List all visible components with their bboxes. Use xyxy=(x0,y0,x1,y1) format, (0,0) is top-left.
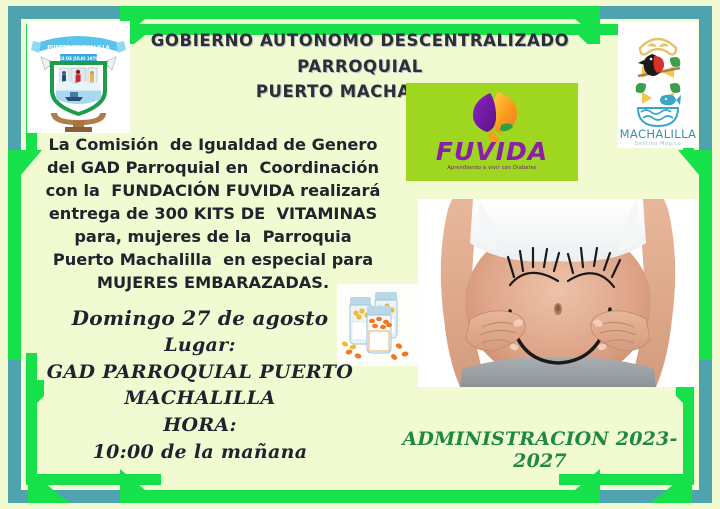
event-time-label: HORA: xyxy=(20,413,380,438)
machalilla-tourism-logo: MACHALILLA Destino Mágico xyxy=(618,22,698,148)
administration-period: ADMINISTRACION 2023-2027 xyxy=(390,428,690,472)
frame-corner-bottom-right-teal xyxy=(562,490,712,503)
event-details: Domingo 27 de agosto Lugar: GAD PARROQUI… xyxy=(20,305,380,466)
event-place-line-1: GAD PARROQUIAL PUERTO xyxy=(20,360,380,385)
event-date: Domingo 27 de agosto xyxy=(20,305,380,331)
frame-corner-bottom-left-teal xyxy=(8,490,158,503)
body-line-6: Puerto Machalilla en especial para xyxy=(18,248,408,271)
coat-of-arms-emblem: PUERTO MACHALILLA 03 DE JULIO 1979 xyxy=(27,21,130,133)
fuvida-logo-banner: FUVIDA Aprendiendo a vivir con Diabetes xyxy=(406,83,578,181)
coat-ribbon-text: PUERTO MACHALILLA xyxy=(47,45,109,51)
announcement-body: La Comisión de Igualdad de Genero del GA… xyxy=(18,133,408,294)
frame-corner-top-right-teal xyxy=(562,6,712,19)
fuvida-tagline: Aprendiendo a vivir con Diabetes xyxy=(406,165,578,171)
pregnant-belly-smiley-photo xyxy=(418,199,698,387)
body-line-1: La Comisión de Igualdad de Genero xyxy=(18,133,408,156)
poster-canvas: PUERTO MACHALILLA 03 DE JULIO 1979 xyxy=(0,0,720,509)
body-line-4: entrega de 300 KITS DE VITAMINAS xyxy=(18,202,408,225)
event-place-line-2: MACHALILLA xyxy=(20,386,380,411)
title-line-1: GOBIERNO AUTONOMO DESCENTRALIZADO PARROQ… xyxy=(151,31,570,76)
coat-date-banner: 03 DE JULIO 1979 xyxy=(59,56,98,61)
frame-corner-bottom-right-teal-vertical xyxy=(699,353,712,503)
event-time-value: 10:00 de la mañana xyxy=(20,440,380,465)
body-line-5: para, mujeres de la Parroquia xyxy=(18,225,408,248)
fuvida-wordmark: FUVIDA xyxy=(406,139,578,164)
event-place-label: Lugar: xyxy=(20,333,380,358)
frame-corner-right-teal-vertical xyxy=(699,6,712,156)
frame-corner-bottom-left-green xyxy=(26,474,161,485)
frame-corner-bottom-right-green xyxy=(559,474,694,485)
body-line-3: con la FUNDACIÓN FUVIDA realizará xyxy=(18,179,408,202)
frame-corner-top-left-teal xyxy=(8,6,158,19)
body-line-2: del GAD Parroquial en Coordinación xyxy=(18,156,408,179)
machalilla-title: MACHALILLA xyxy=(620,127,697,141)
machalilla-subtitle: Destino Mágico xyxy=(635,140,682,147)
